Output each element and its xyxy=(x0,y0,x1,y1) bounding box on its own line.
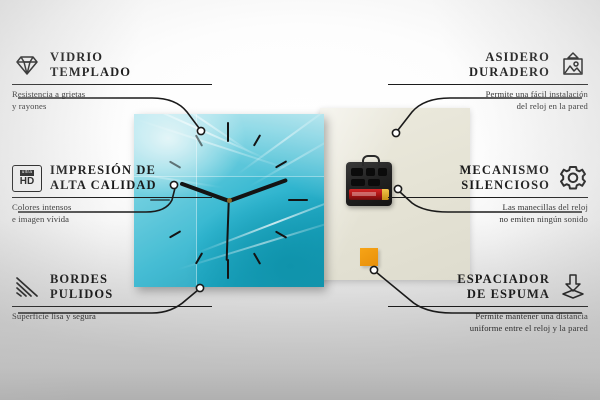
clock-tick xyxy=(288,199,308,201)
feature-description: Las manecillas del reloj no emiten ningú… xyxy=(388,202,588,225)
down-arrow-pad-icon xyxy=(558,273,588,301)
feature-description: Superficie lisa y segura xyxy=(12,311,212,323)
battery-label xyxy=(352,192,376,196)
clock-mechanism xyxy=(346,162,392,206)
feature-title: ESPACIADOR DE ESPUMA xyxy=(457,272,550,303)
mechanism-hook-icon xyxy=(362,155,380,166)
feature-desc-line1: Colores intensos xyxy=(12,202,212,214)
feature-title: MECANISMO SILENCIOSO xyxy=(460,163,550,194)
foam-spacer xyxy=(360,248,378,266)
battery xyxy=(349,189,389,200)
feature-asidero-duradero: ASIDERO DURADERO Permite una fácil insta… xyxy=(388,50,588,112)
clock-tick xyxy=(227,259,229,279)
feature-title-line2: TEMPLADO xyxy=(50,65,131,80)
clock-tick xyxy=(253,252,262,264)
feature-desc-line1: Resistencia a grietas xyxy=(12,89,212,101)
feature-header: ASIDERO DURADERO xyxy=(388,50,588,81)
feature-header: VIDRIO TEMPLADO xyxy=(12,50,212,81)
gear-icon xyxy=(558,164,588,192)
feature-title: VIDRIO TEMPLADO xyxy=(50,50,131,81)
feature-desc-line2: no emiten ningún sonido xyxy=(388,214,588,226)
feature-desc-line1: Las manecillas del reloj xyxy=(388,202,588,214)
feature-title-line1: VIDRIO xyxy=(50,50,103,65)
feature-title: IMPRESIÓN DE ALTA CALIDAD xyxy=(50,163,157,194)
clock-center-pin xyxy=(227,198,232,203)
mechanism-slot xyxy=(351,168,363,176)
mechanism-slot xyxy=(366,168,375,176)
feature-desc-line1: Permite mantener una distancia xyxy=(388,311,588,323)
feature-title-line2: DURADERO xyxy=(469,65,550,80)
feature-divider xyxy=(12,197,212,199)
feature-vidrio-templado: VIDRIO TEMPLADO Resistencia a grietas y … xyxy=(12,50,212,112)
diamond-icon xyxy=(12,51,42,79)
feature-impresion-alta-calidad: ultra HD IMPRESIÓN DE ALTA CALIDAD Color… xyxy=(12,163,212,225)
mechanism-slot xyxy=(368,179,380,186)
feature-title-line2: SILENCIOSO xyxy=(461,178,550,193)
feature-bordes-pulidos: BORDES PULIDOS Superficie lisa y segura xyxy=(12,272,212,323)
feature-header: MECANISMO SILENCIOSO xyxy=(388,163,588,194)
feature-title-line1: MECANISMO xyxy=(460,163,550,178)
framed-picture-hook-icon xyxy=(558,51,588,79)
feature-description: Permite mantener una distancia uniforme … xyxy=(388,311,588,334)
infographic-canvas: VIDRIO TEMPLADO Resistencia a grietas y … xyxy=(0,0,600,400)
feature-mecanismo-silencioso: MECANISMO SILENCIOSO Las manecillas del … xyxy=(388,163,588,225)
feature-title-line1: ESPACIADOR xyxy=(457,272,550,287)
ultra-hd-icon: ultra HD xyxy=(12,164,42,192)
feature-desc-line2: del reloj en la pared xyxy=(388,101,588,113)
feature-desc-line2: uniforme entre el reloj y la pared xyxy=(388,323,588,335)
feature-title: BORDES PULIDOS xyxy=(50,272,113,303)
feature-divider xyxy=(388,197,588,199)
feature-description: Resistencia a grietas y rayones xyxy=(12,89,212,112)
feature-title-line1: ASIDERO xyxy=(485,50,550,65)
feature-title-line2: ALTA CALIDAD xyxy=(50,178,157,193)
feature-title-line2: PULIDOS xyxy=(50,287,113,302)
feature-title-line1: IMPRESIÓN DE xyxy=(50,163,156,178)
feature-desc-line2: e imagen vívida xyxy=(12,214,212,226)
feature-espaciador-de-espuma: ESPACIADOR DE ESPUMA Permite mantener un… xyxy=(388,272,588,334)
feature-description: Colores intensos e imagen vívida xyxy=(12,202,212,225)
feature-header: BORDES PULIDOS xyxy=(12,272,212,303)
mechanism-slot xyxy=(351,179,365,186)
feature-divider xyxy=(12,84,212,86)
feature-desc-line1: Superficie lisa y segura xyxy=(12,311,212,323)
feature-divider xyxy=(388,84,588,86)
feature-desc-line2: y rayones xyxy=(12,101,212,113)
feature-header: ultra HD IMPRESIÓN DE ALTA CALIDAD xyxy=(12,163,212,194)
ultra-hd-badge-main: HD xyxy=(20,177,34,187)
feature-divider xyxy=(388,306,588,308)
ultra-hd-badge: ultra HD xyxy=(12,165,42,192)
feature-description: Permite una fácil instalación del reloj … xyxy=(388,89,588,112)
ultra-hd-badge-top: ultra xyxy=(20,170,34,176)
mechanism-slot xyxy=(378,168,387,176)
feature-title: ASIDERO DURADERO xyxy=(469,50,550,81)
feature-header: ESPACIADOR DE ESPUMA xyxy=(388,272,588,303)
feature-desc-line1: Permite una fácil instalación xyxy=(388,89,588,101)
feature-title-line2: DE ESPUMA xyxy=(467,287,550,302)
diagonal-lines-icon xyxy=(12,273,42,301)
feature-title-line1: BORDES xyxy=(50,272,108,287)
feature-divider xyxy=(12,306,212,308)
